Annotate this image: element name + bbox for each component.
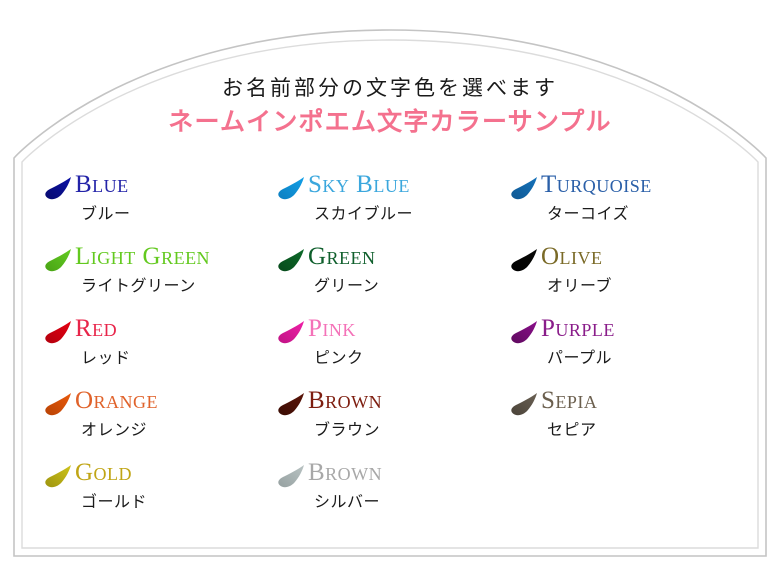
leaf-swatch-icon <box>44 248 72 272</box>
color-name-jp: ブラウン <box>314 421 510 440</box>
color-name-en: Purple <box>541 316 615 342</box>
swatch-name-row: Brown <box>277 460 510 490</box>
color-name-en: Brown <box>308 460 382 486</box>
color-swatch-item[interactable]: Blueブルー <box>44 172 277 244</box>
color-name-jp: シルバー <box>314 493 510 512</box>
color-name-en: Red <box>75 316 117 342</box>
color-swatch-item[interactable]: Brownシルバー <box>277 460 510 532</box>
swatch-name-row: Gold <box>44 460 277 490</box>
color-swatch-item[interactable]: Greenグリーン <box>277 244 510 316</box>
leaf-swatch-icon <box>44 176 72 200</box>
leaf-swatch-icon <box>277 176 305 200</box>
color-name-jp: パープル <box>547 349 743 368</box>
swatch-name-row: Brown <box>277 388 510 418</box>
swatch-name-row: Green <box>277 244 510 274</box>
color-name-en: Light Green <box>75 244 210 270</box>
color-name-en: Blue <box>75 172 129 198</box>
leaf-swatch-icon <box>44 320 72 344</box>
color-swatch-item[interactable]: Light Greenライトグリーン <box>44 244 277 316</box>
swatch-name-row: Orange <box>44 388 277 418</box>
leaf-swatch-icon <box>277 320 305 344</box>
color-name-en: Green <box>308 244 376 270</box>
color-name-jp: スカイブルー <box>314 205 510 224</box>
swatch-name-row: Pink <box>277 316 510 346</box>
page-header: お名前部分の文字色を選べます ネームインポエム文字カラーサンプル <box>0 74 780 140</box>
color-name-jp: ピンク <box>314 349 510 368</box>
color-name-en: Orange <box>75 388 158 414</box>
color-swatch-grid: BlueブルーSky BlueスカイブルーTurquoiseターコイズLight… <box>44 172 744 532</box>
swatch-name-row: Olive <box>510 244 743 274</box>
color-name-en: Olive <box>541 244 603 270</box>
leaf-swatch-icon <box>510 320 538 344</box>
swatch-name-row: Turquoise <box>510 172 743 202</box>
color-swatch-item[interactable]: Turquoiseターコイズ <box>510 172 743 244</box>
swatch-name-row: Light Green <box>44 244 277 274</box>
swatch-name-row: Purple <box>510 316 743 346</box>
color-swatch-item[interactable]: Sepiaセピア <box>510 388 743 460</box>
color-sample-page: お名前部分の文字色を選べます ネームインポエム文字カラーサンプル Blueブルー… <box>0 0 780 570</box>
color-name-en: Gold <box>75 460 132 486</box>
color-swatch-item[interactable]: Purpleパープル <box>510 316 743 388</box>
leaf-swatch-icon <box>277 392 305 416</box>
color-name-jp: ゴールド <box>81 493 277 512</box>
swatch-name-row: Sepia <box>510 388 743 418</box>
color-name-jp: セピア <box>547 421 743 440</box>
page-subtitle: お名前部分の文字色を選べます <box>0 74 780 102</box>
leaf-swatch-icon <box>44 392 72 416</box>
color-swatch-item[interactable]: Sky Blueスカイブルー <box>277 172 510 244</box>
leaf-swatch-icon <box>510 248 538 272</box>
leaf-swatch-icon <box>510 176 538 200</box>
swatch-name-row: Sky Blue <box>277 172 510 202</box>
color-swatch-item[interactable]: Oliveオリーブ <box>510 244 743 316</box>
color-swatch-item[interactable]: Orangeオレンジ <box>44 388 277 460</box>
color-swatch-item[interactable]: Pinkピンク <box>277 316 510 388</box>
color-name-jp: ライトグリーン <box>81 277 277 296</box>
color-swatch-item[interactable]: Redレッド <box>44 316 277 388</box>
leaf-swatch-icon <box>277 248 305 272</box>
swatch-name-row: Red <box>44 316 277 346</box>
color-name-en: Turquoise <box>541 172 652 198</box>
color-name-en: Brown <box>308 388 382 414</box>
color-name-jp: ブルー <box>81 205 277 224</box>
leaf-swatch-icon <box>277 464 305 488</box>
color-name-jp: レッド <box>81 349 277 368</box>
page-title: ネームインポエム文字カラーサンプル <box>0 106 780 140</box>
leaf-swatch-icon <box>44 464 72 488</box>
leaf-swatch-icon <box>510 392 538 416</box>
color-name-jp: オリーブ <box>547 277 743 296</box>
color-name-jp: グリーン <box>314 277 510 296</box>
color-name-jp: オレンジ <box>81 421 277 440</box>
swatch-name-row: Blue <box>44 172 277 202</box>
color-name-en: Pink <box>308 316 356 342</box>
color-name-en: Sepia <box>541 388 597 414</box>
color-name-jp: ターコイズ <box>547 205 743 224</box>
color-swatch-item[interactable]: Brownブラウン <box>277 388 510 460</box>
color-name-en: Sky Blue <box>308 172 410 198</box>
color-swatch-item[interactable]: Goldゴールド <box>44 460 277 532</box>
